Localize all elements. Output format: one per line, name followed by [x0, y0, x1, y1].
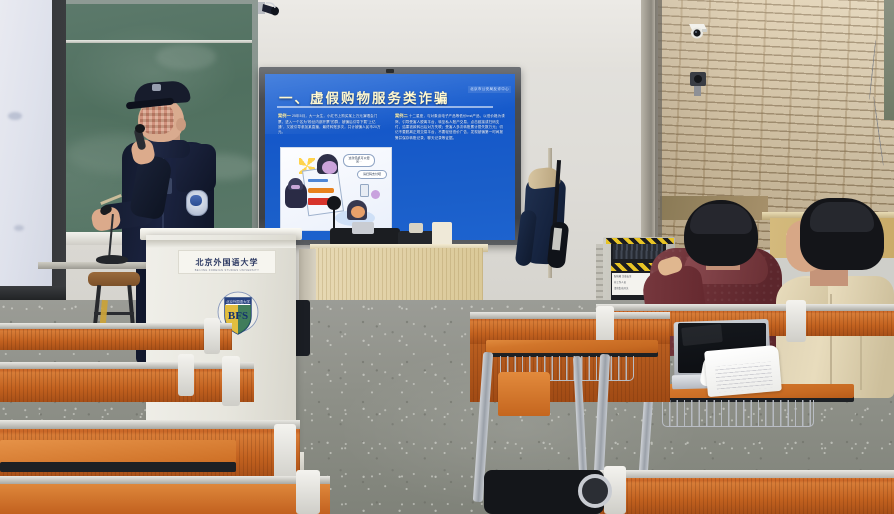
illustration-phone-icon [360, 184, 369, 197]
microphone-head [135, 124, 145, 133]
desk-row-end-cap [204, 318, 220, 354]
projection-screen [0, 0, 52, 286]
desk-row-end-cap [786, 300, 806, 342]
slide-title-underline [277, 106, 493, 108]
desk-row-lip [0, 323, 232, 329]
desk-surface[interactable] [486, 340, 658, 353]
wooden-stool-seat[interactable] [88, 272, 140, 286]
podium-nameplate-english: BEIJING FOREIGN STUDIES UNIVERSITY [195, 269, 259, 272]
chair-caster-wheel [578, 474, 612, 508]
victim-girl-face [322, 161, 337, 174]
chalk-smudge [156, 44, 216, 70]
slide-case-one-text: 25年5月，大一女生，小红书上购买某上万元演唱会门票，进入一个名为"粉丝内部开票… [278, 114, 381, 134]
desk-row-lip [470, 312, 670, 319]
wall-device-mount [694, 86, 701, 96]
illustration-coin-icon [371, 190, 380, 199]
speech-bubble-one: 这款手机可以便宜… [343, 154, 375, 167]
folding-seat[interactable] [498, 372, 550, 416]
officer-shoulder-patch-emblem [190, 195, 202, 206]
desk-surface[interactable] [0, 440, 236, 464]
svg-text:北京外国语大学: 北京外国语大学 [226, 299, 250, 304]
slide-case-two-label: 案例二 [395, 113, 408, 118]
slide-case-one-label: 案例一 [278, 113, 291, 118]
desk-row-panel-front [0, 482, 330, 514]
slide-case-two-text: 十二星座，与对象谈电子产品等低价inst产品，以低价格为诱饵，引导受害人脱离平台… [395, 114, 505, 140]
slide-case-one: 案例一 25年5月，大一女生，小红书上购买某上万元演唱会门票，进入一个名为"粉丝… [278, 113, 383, 136]
desk-microphone-base [96, 255, 128, 264]
podium-nameplate-chinese: 北京外国语大学 [196, 257, 259, 268]
illustration-bar [308, 188, 334, 193]
desk-row-grain [0, 368, 254, 402]
av-equipment-light [409, 223, 423, 233]
svg-text:BFS: BFS [228, 310, 248, 322]
student-left-hair-highlight [690, 204, 752, 234]
speech-bubble-two: 请扫码支付吧 [357, 170, 387, 179]
illustration-bar [308, 179, 328, 182]
slide-illustration: 这款手机可以便宜… 请扫码支付吧 [280, 147, 392, 231]
desk-row-end-cap [178, 354, 194, 396]
front-table-edge [38, 262, 156, 269]
student-right-hair-highlight [810, 202, 874, 232]
desk-edge [0, 462, 236, 472]
desk-row-grain [600, 478, 894, 514]
desk-row-lip [596, 304, 894, 311]
ceiling-camera-left-icon [258, 2, 282, 22]
officer-ear [176, 118, 186, 131]
screen-mark [14, 225, 24, 231]
desk-row-grain [0, 328, 232, 350]
wall-device-lens [694, 75, 702, 83]
student-laptop[interactable] [672, 320, 780, 398]
victim-boy-face [351, 206, 365, 218]
dome-camera-right-icon [688, 22, 710, 42]
av-equipment-light [352, 222, 374, 234]
slide-title: 一、虚假购物服务类诈骗 [279, 87, 479, 107]
podium-upper-band [146, 240, 296, 248]
slide-case-two: 案例二 十二星座，与对象谈电子产品等低价inst产品，以低价格为诱饵，引导受害人… [395, 113, 505, 141]
floor-microphone-head [327, 196, 341, 210]
wall-display-screen[interactable]: 一、虚假购物服务类诈骗 北京市公安局反诈中心 案例一 25年5月，大一女生，小红… [265, 74, 515, 240]
av-equipment-box [432, 222, 452, 246]
desk-row-end-cap [274, 424, 296, 484]
student-right [774, 198, 894, 398]
podium-nameplate: 北京外国语大学 BEIJING FOREIGN STUDIES UNIVERSI… [178, 250, 276, 274]
scammer-mask [291, 185, 300, 189]
officer-face-pixelated [140, 104, 174, 134]
slide-watermark: 北京市公安局反诈中心 [468, 86, 511, 93]
officer-cap-badge [152, 84, 161, 91]
handout-text-lines [715, 362, 773, 393]
desk-row-lip [0, 476, 330, 484]
desk-wire-basket [662, 400, 814, 427]
desk-row-end-cap [222, 356, 240, 406]
desk-row-lip [0, 420, 300, 429]
window-sliver [884, 0, 894, 120]
desk-row-end-cap [296, 470, 320, 514]
display-camera-icon [386, 69, 394, 73]
desk-row-lip [0, 362, 254, 369]
lecture-hall-photo: 一、虚假购物服务类诈骗 北京市公安局反诈中心 案例一 25年5月，大一女生，小红… [0, 0, 894, 514]
screen-mark [8, 112, 22, 120]
